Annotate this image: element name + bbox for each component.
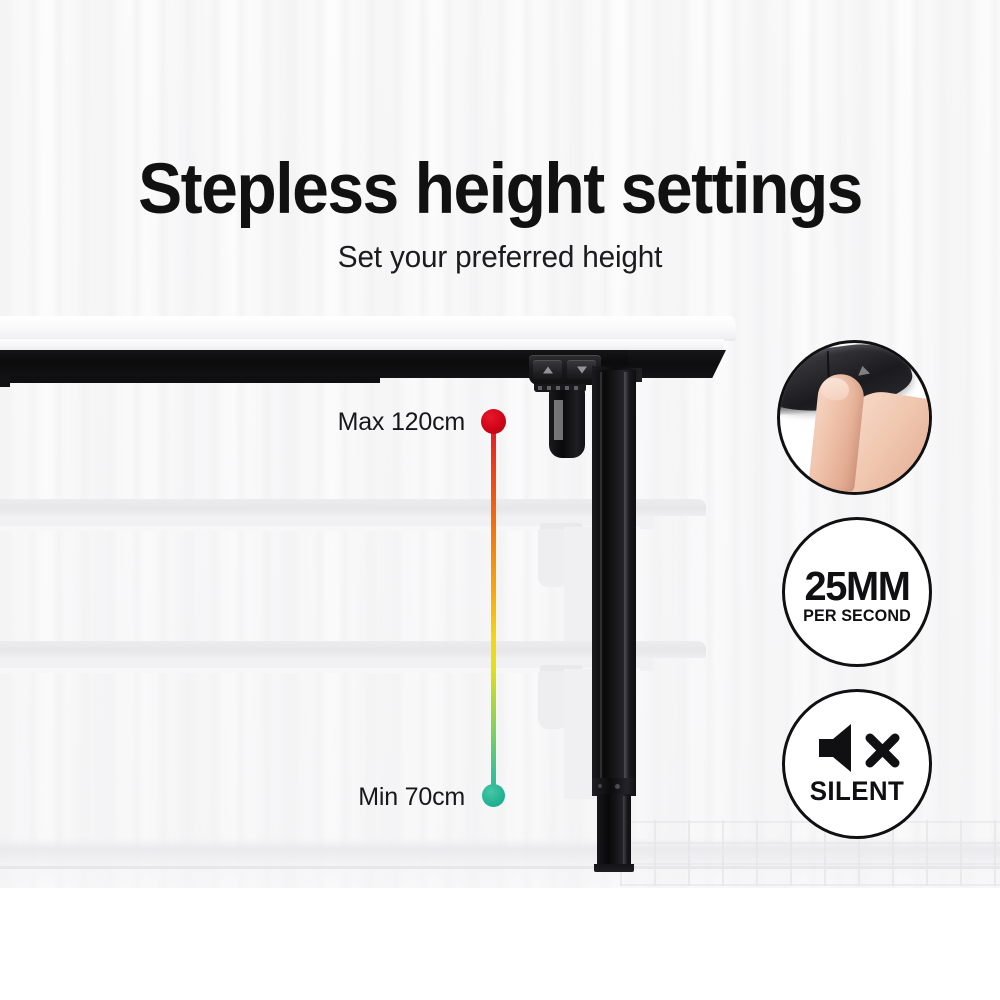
leg-inner-highlight	[623, 796, 627, 868]
badge-lift-speed: 25MM PER SECOND	[782, 517, 932, 667]
min-height-marker-dot	[482, 784, 505, 807]
leg-highlight	[624, 372, 629, 788]
lift-speed-value: 25MM	[787, 564, 927, 608]
leg-seam	[600, 372, 602, 788]
muted-speaker-icon	[815, 722, 905, 774]
desktop-highlight	[0, 316, 736, 322]
badge-one-touch-control	[777, 340, 932, 495]
raise-desk-button[interactable]	[533, 360, 562, 379]
leg-joint-screw-secondary	[598, 784, 602, 788]
desktop-surface	[0, 316, 736, 340]
silent-label: SILENT	[788, 776, 926, 806]
max-height-label: Max 120cm	[180, 408, 465, 436]
frame-beam-underside	[8, 376, 380, 383]
min-height-label: Min 70cm	[180, 783, 465, 811]
page-title: Stepless height settings	[35, 151, 965, 229]
desktop-edge	[0, 339, 724, 350]
frame-beam-end-cap	[0, 376, 10, 387]
motor-spec-label	[554, 400, 563, 440]
leg-joint-screw	[615, 784, 620, 789]
frame-beam-bracket	[628, 350, 726, 378]
height-range-gradient-bar	[491, 418, 496, 796]
chevron-down-icon	[577, 366, 587, 373]
desk-control-panel[interactable]	[529, 355, 601, 385]
max-height-marker-dot	[481, 409, 506, 434]
page-subtitle: Set your preferred height	[20, 238, 980, 276]
bottom-white-margin	[0, 888, 1000, 1000]
lift-speed-unit: PER SECOND	[789, 606, 926, 626]
product-infographic: Stepless height settings Set your prefer…	[0, 0, 1000, 1000]
badge-silent-operation: SILENT	[782, 689, 932, 839]
leg-outer-column	[592, 370, 636, 790]
background-tile-grid	[620, 820, 1000, 886]
chevron-up-icon	[543, 366, 553, 373]
paddle-arrow-icon	[857, 365, 870, 376]
leg-foot	[594, 864, 634, 872]
